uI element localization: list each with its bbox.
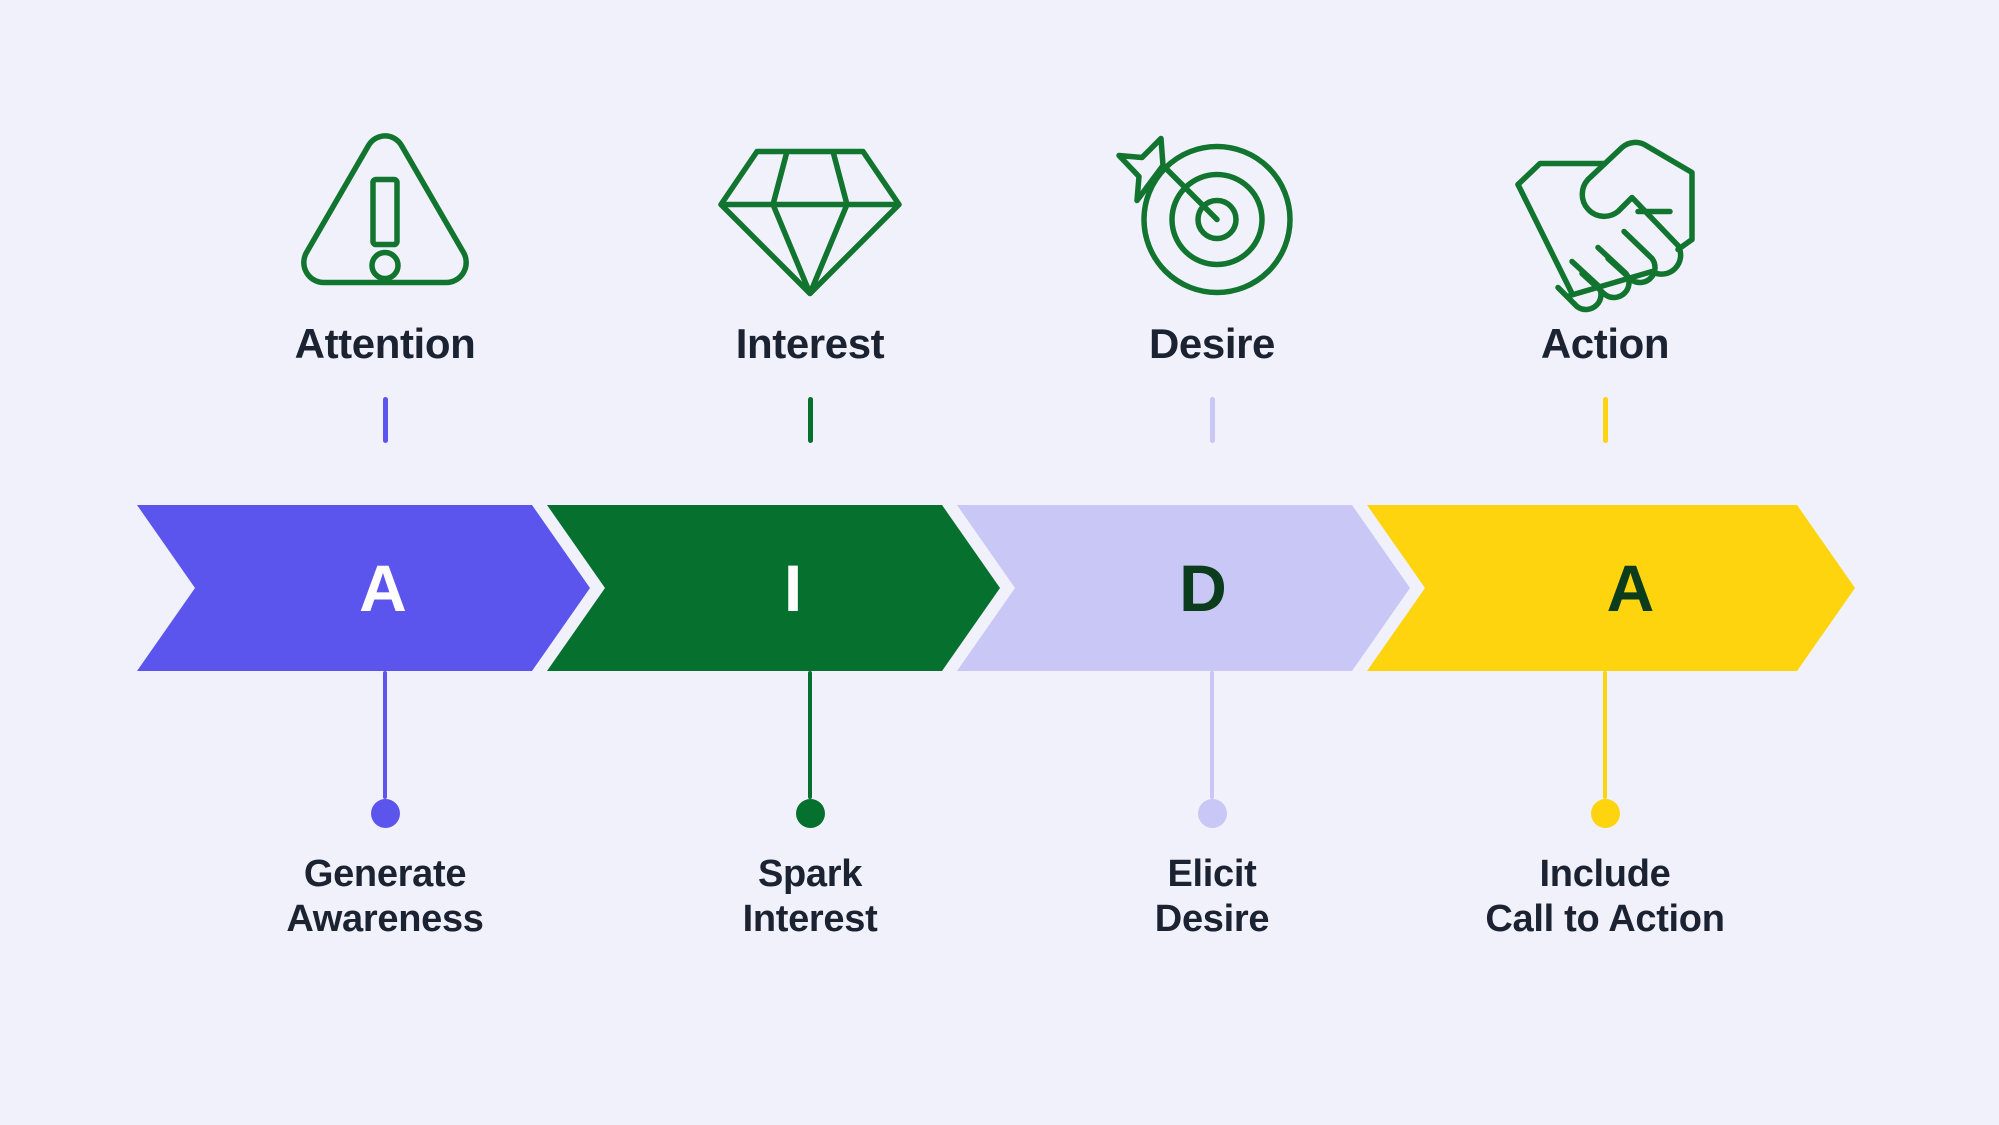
connector-stem-desire [1210, 671, 1214, 799]
stage-top-action: Action [1455, 120, 1755, 443]
diamond-gem-icon [715, 120, 905, 305]
connector-tick-desire [1210, 397, 1215, 443]
connector-tick-interest [808, 397, 813, 443]
chevron-desire [957, 505, 1410, 671]
chevron-interest [547, 505, 1000, 671]
stage-bottom-desire: Elicit Desire [1042, 671, 1382, 942]
chevron-action [1367, 505, 1855, 671]
stage-bottom-interest: Spark Interest [640, 671, 980, 942]
stage-bottom-attention: Generate Awareness [215, 671, 555, 942]
connector-tick-action [1603, 397, 1608, 443]
stage-caption: Elicit Desire [1155, 852, 1269, 942]
chevron-band [137, 505, 1855, 671]
stage-title: Action [1541, 323, 1669, 365]
stage-top-interest: Interest [660, 120, 960, 443]
stage-top-attention: Attention [235, 120, 535, 443]
chevron-attention [137, 505, 590, 671]
connector-stem-action [1603, 671, 1607, 799]
stage-caption: Spark Interest [743, 852, 878, 942]
connector-dot-desire [1198, 799, 1227, 828]
stage-bottom-action: Include Call to Action [1435, 671, 1775, 942]
connector-dot-action [1591, 799, 1620, 828]
connector-stem-attention [383, 671, 387, 799]
warning-triangle-icon [290, 120, 480, 305]
stage-title: Desire [1149, 323, 1275, 365]
aida-funnel-diagram: Attention Interest Desire [0, 0, 1999, 1125]
stage-title: Attention [295, 323, 476, 365]
connector-dot-interest [796, 799, 825, 828]
stage-top-desire: Desire [1062, 120, 1362, 443]
connector-stem-interest [808, 671, 812, 799]
target-arrow-icon [1117, 120, 1307, 305]
stage-caption: Include Call to Action [1485, 852, 1724, 942]
connector-dot-attention [371, 799, 400, 828]
connector-tick-attention [383, 397, 388, 443]
handshake-icon [1510, 120, 1700, 305]
stage-caption: Generate Awareness [286, 852, 483, 942]
stage-title: Interest [736, 323, 885, 365]
